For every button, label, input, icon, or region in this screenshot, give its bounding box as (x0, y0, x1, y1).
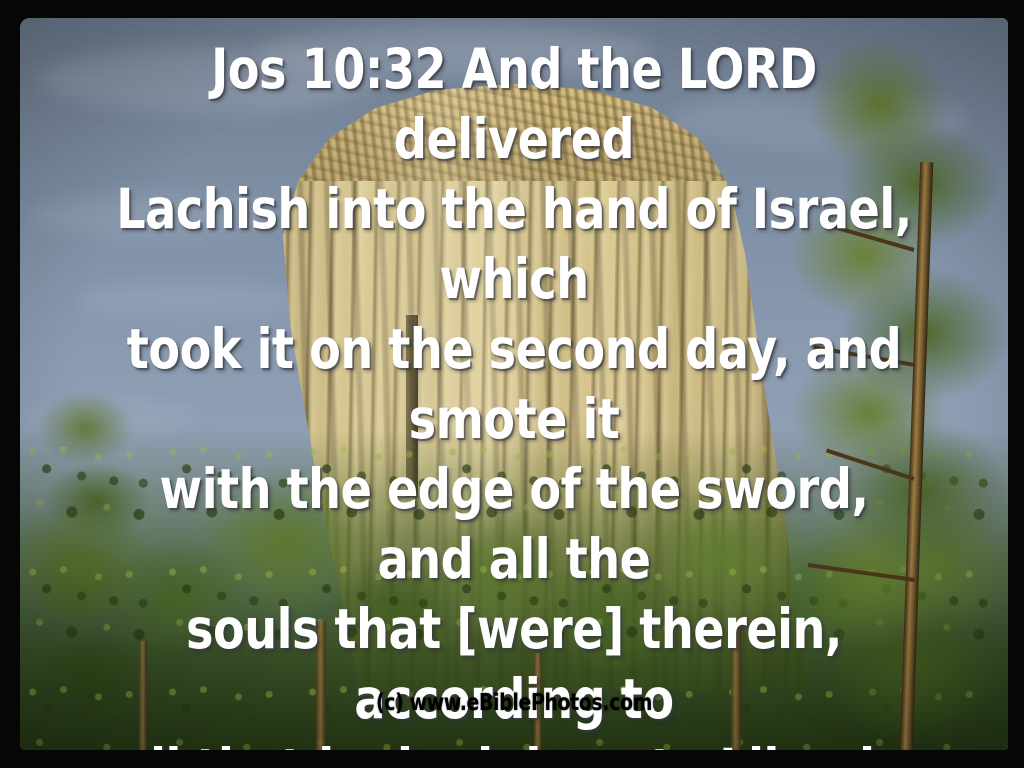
tree-trunk (316, 621, 326, 750)
cloud-wisp (30, 194, 287, 238)
right-pine-tree (771, 33, 1008, 750)
pine-branch (813, 345, 915, 367)
background-photograph: Jos 10:32 And the LORD deliveredLachish … (20, 18, 1008, 750)
copyright-watermark: (c) www.eBiblePhotos.com (109, 690, 919, 716)
pine-branch (830, 224, 915, 252)
cloud-wisp (257, 25, 652, 76)
slide-canvas: Jos 10:32 And the LORD deliveredLachish … (0, 0, 1024, 768)
tree-trunk (731, 628, 741, 750)
pine-branch (826, 449, 915, 481)
pine-trunk (899, 162, 933, 750)
pine-branch (808, 563, 915, 582)
cloud-wisp (79, 282, 296, 319)
